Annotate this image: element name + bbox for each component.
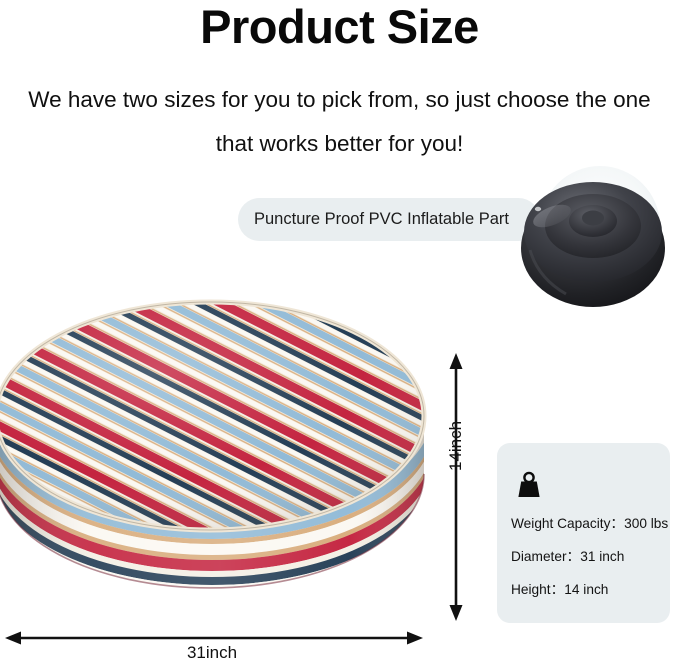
spec-label-weight-capacity: Weight Capacity： xyxy=(511,516,624,531)
inflatable-part-image xyxy=(508,160,679,312)
spec-value-height: 14 inch xyxy=(564,582,608,597)
callout-puncture-proof: Puncture Proof PVC Inflatable Part xyxy=(238,198,540,241)
specs-card: Weight Capacity：300 lbs Diameter：31 inch… xyxy=(497,443,670,623)
spec-row-height: Height：14 inch xyxy=(511,582,664,598)
spec-label-height: Height： xyxy=(511,582,564,597)
weight-icon xyxy=(514,470,544,500)
puck-center-dome xyxy=(582,211,604,226)
valve-icon xyxy=(535,207,541,211)
product-image-ottoman xyxy=(0,288,428,624)
spec-row-diameter: Diameter：31 inch xyxy=(511,549,664,565)
spec-value-weight-capacity: 300 lbs xyxy=(624,516,668,531)
spec-label-diameter: Diameter： xyxy=(511,549,580,564)
callout-label: Puncture Proof PVC Inflatable Part xyxy=(238,210,509,229)
page-subtitle: We have two sizes for you to pick from, … xyxy=(14,78,665,166)
spec-row-weight-capacity: Weight Capacity：300 lbs xyxy=(511,516,664,532)
dimension-height-arrow xyxy=(438,352,474,622)
spec-value-diameter: 31 inch xyxy=(580,549,624,564)
dimension-width-label: 31inch xyxy=(4,643,420,663)
product-size-infographic: Product Size We have two sizes for you t… xyxy=(0,0,679,666)
specs-list: Weight Capacity：300 lbs Diameter：31 inch… xyxy=(511,516,664,615)
page-title: Product Size xyxy=(0,0,679,56)
dimension-height-label: 14inch xyxy=(446,435,466,471)
